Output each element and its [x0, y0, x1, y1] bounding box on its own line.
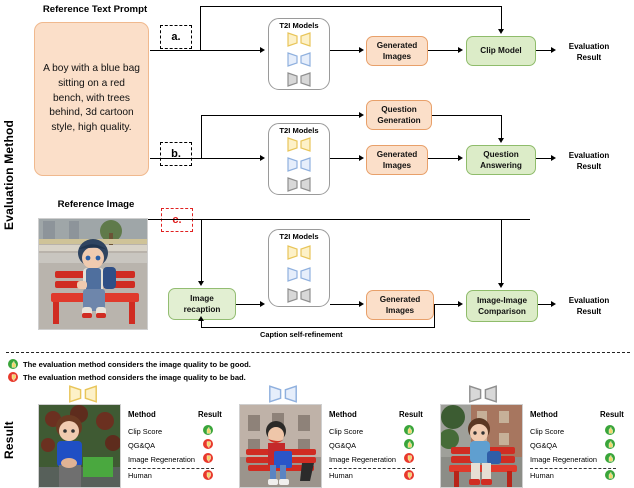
connector-recaption-to-t2i [236, 304, 262, 305]
unet-icon-yellow-panel1 [68, 385, 98, 403]
result-image-panel3 [440, 404, 523, 488]
caption-self-refinement-label: Caption self-refinement [260, 330, 343, 339]
connector-prompt-to-t2i-b [150, 158, 262, 159]
unet-icon-yellow [287, 32, 311, 47]
unet-icon-blue [287, 157, 311, 172]
evaluation-result-c: Evaluation Result [558, 296, 620, 318]
arrowhead-genimg-b [359, 155, 364, 161]
reference-image-art [39, 219, 148, 330]
node-question-generation: Question Generation [366, 100, 432, 130]
result-badge-2-3 [404, 470, 414, 480]
arrowhead-compare-top [498, 283, 504, 288]
legend-row-good: The evaluation method considers the imag… [8, 359, 251, 369]
arrowhead-recaption [198, 281, 204, 286]
connector-qg-out [432, 115, 502, 116]
result-badge-2-2 [404, 453, 414, 463]
result-badge-1-0 [203, 425, 213, 435]
result-badge-3-0 [605, 425, 615, 435]
result-table-3-method-3: Human [530, 471, 554, 480]
result-table-2-col-result: Result [399, 410, 423, 419]
arrowhead-clip [458, 47, 463, 53]
result-badge-3-1 [605, 439, 615, 449]
result-table-3-col-result: Result [600, 410, 624, 419]
bypass-horiz-a [200, 6, 502, 7]
result-table-2-method-3: Human [329, 471, 353, 480]
result-image-art-1 [39, 405, 121, 488]
result-table-1-method-2: Image Regeneration [128, 455, 195, 464]
bypass-vert-left-a [200, 6, 201, 51]
arrowhead-t2i-c [260, 301, 265, 307]
step-tag-b: b. [160, 142, 192, 166]
arrowhead-qg-to-qa [498, 138, 504, 143]
result-badge-2-1 [404, 439, 414, 449]
unet-icon-gray [287, 288, 311, 303]
branch-horiz-to-qg [201, 115, 359, 116]
arrowhead-t2i-a [260, 47, 265, 53]
result-badge-3-2 [605, 453, 615, 463]
result-table-2-col-method: Method [329, 410, 357, 419]
t2i-models-box-a: T2I Models [268, 18, 330, 90]
result-badge-1-1 [203, 439, 213, 449]
reference-text-prompt-box: A boy with a blue bag sitting on a red b… [34, 22, 149, 176]
arrowhead-bypass-clip [498, 29, 504, 34]
result-badge-3-3 [605, 470, 615, 480]
t2i-models-box-c: T2I Models [268, 229, 330, 307]
connector-t2i-to-genimg-c [330, 304, 360, 305]
result-badge-1-3 [203, 470, 213, 480]
result-table-2-separator [329, 468, 415, 469]
reference-image-caption: Reference Image [32, 199, 160, 210]
result-table-1-method-1: QG&QA [128, 441, 155, 450]
unet-icon-yellow [287, 137, 311, 152]
section-label-evaluation-method: Evaluation Method [2, 60, 16, 290]
unet-icon-gray [287, 177, 311, 192]
result-table-1-separator [128, 468, 214, 469]
arrowhead-qa [458, 155, 463, 161]
unet-icon-blue [287, 52, 311, 67]
unet-icon-blue-panel2 [268, 385, 298, 403]
result-image-panel1 [38, 404, 121, 488]
unet-icon-gray-panel3 [468, 385, 498, 403]
unet-icon-blue [287, 267, 311, 282]
figure-root: Evaluation Method Result Reference Text … [0, 0, 634, 488]
connector-refimg-top [148, 219, 530, 220]
t2i-models-box-b: T2I Models [268, 123, 330, 195]
reference-image [38, 218, 148, 330]
connector-genimg-to-compare [434, 304, 459, 305]
node-question-answering: Question Answering [466, 145, 536, 175]
arrowhead-compare [458, 301, 463, 307]
arrowhead-t2i-b [260, 155, 265, 161]
connector-refimg-down-to-recaption [201, 219, 202, 281]
node-clip-model: Clip Model [466, 36, 536, 66]
result-table-1-col-method: Method [128, 410, 156, 419]
unet-icon-yellow [287, 245, 311, 260]
t2i-models-title: T2I Models [269, 21, 329, 30]
result-badge-2-0 [404, 425, 414, 435]
result-image-panel2 [239, 404, 322, 488]
t2i-models-title-b: T2I Models [269, 126, 329, 135]
connector-t2i-to-genimg-a [330, 50, 360, 51]
result-table-3-method-1: QG&QA [530, 441, 557, 450]
result-badge-1-2 [203, 453, 213, 463]
node-generated-images-a: Generated Images [366, 36, 428, 66]
result-image-art-2 [240, 405, 322, 488]
evaluation-result-a: Evaluation Result [558, 42, 620, 64]
result-table-3-separator [530, 468, 616, 469]
node-image-image-comparison: Image-Image Comparison [466, 290, 538, 322]
unet-icon-gray [287, 72, 311, 87]
result-table-2-method-1: QG&QA [329, 441, 356, 450]
arrowhead-qg [359, 112, 364, 118]
node-generated-images-b: Generated Images [366, 145, 428, 175]
legend-row-bad: The evaluation method considers the imag… [8, 372, 246, 382]
result-table-3-col-method: Method [530, 410, 558, 419]
result-table-1-method-3: Human [128, 471, 152, 480]
connector-refimg-down-to-compare [501, 219, 502, 283]
arrowhead-genimg-c [359, 301, 364, 307]
connector-genimg-to-qa [428, 158, 459, 159]
result-image-art-3 [441, 405, 523, 488]
t2i-models-title-c: T2I Models [269, 232, 329, 241]
connector-prompt-to-t2i-a [150, 50, 262, 51]
result-table-1-method-0: Clip Score [128, 427, 162, 436]
section-divider [6, 352, 630, 353]
refine-vert-right [434, 304, 435, 328]
result-table-1-col-result: Result [198, 410, 222, 419]
connector-genimg-to-clip [428, 50, 459, 51]
result-table-2-method-2: Image Regeneration [329, 455, 396, 464]
result-table-2-method-0: Clip Score [329, 427, 363, 436]
step-tag-a: a. [160, 25, 192, 49]
branch-vert-b [201, 115, 202, 159]
arrowhead-result-a [551, 47, 556, 53]
reference-text-prompt-caption: Reference Text Prompt [30, 4, 160, 15]
arrowhead-refine-back [198, 316, 204, 321]
legend-text-bad: The evaluation method considers the imag… [23, 373, 246, 382]
arrowhead-result-c [551, 301, 556, 307]
bypass-vert-right-a [501, 6, 502, 30]
evaluation-result-b: Evaluation Result [558, 151, 620, 173]
connector-qg-down [501, 115, 502, 139]
connector-t2i-to-genimg-b [330, 158, 360, 159]
section-label-result: Result [2, 410, 16, 470]
arrowhead-result-b [551, 155, 556, 161]
thumbs-down-icon [8, 372, 18, 382]
thumbs-up-icon [8, 359, 18, 369]
legend-text-good: The evaluation method considers the imag… [23, 360, 251, 369]
arrowhead-genimg-a [359, 47, 364, 53]
node-generated-images-c: Generated Images [366, 290, 434, 320]
refine-horiz [201, 327, 435, 328]
result-table-3-method-2: Image Regeneration [530, 455, 597, 464]
result-table-3-method-0: Clip Score [530, 427, 564, 436]
